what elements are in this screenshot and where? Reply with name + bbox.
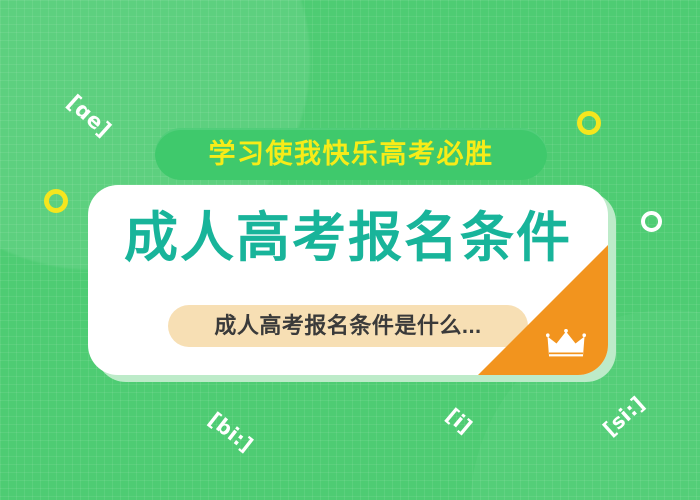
slogan-banner-text: 学习使我快乐高考必胜 bbox=[209, 141, 494, 168]
main-card: 成人高考报名条件 成人高考报名条件是什么... bbox=[88, 185, 608, 375]
page-title: 成人高考报名条件 bbox=[88, 211, 608, 265]
subtitle-pill: 成人高考报名条件是什么... bbox=[168, 305, 528, 347]
crown-icon bbox=[546, 329, 586, 359]
subtitle-text: 成人高考报名条件是什么... bbox=[214, 315, 481, 337]
ring-white-right bbox=[641, 211, 662, 232]
slogan-banner: 学习使我快乐高考必胜 bbox=[155, 128, 547, 180]
ring-yellow-right bbox=[577, 111, 601, 135]
poster-canvas: [ɑe] [bi:] [i] [si:] 学习使我快乐高考必胜 成人高考报名条件… bbox=[0, 0, 700, 500]
ring-yellow-left bbox=[44, 189, 68, 213]
